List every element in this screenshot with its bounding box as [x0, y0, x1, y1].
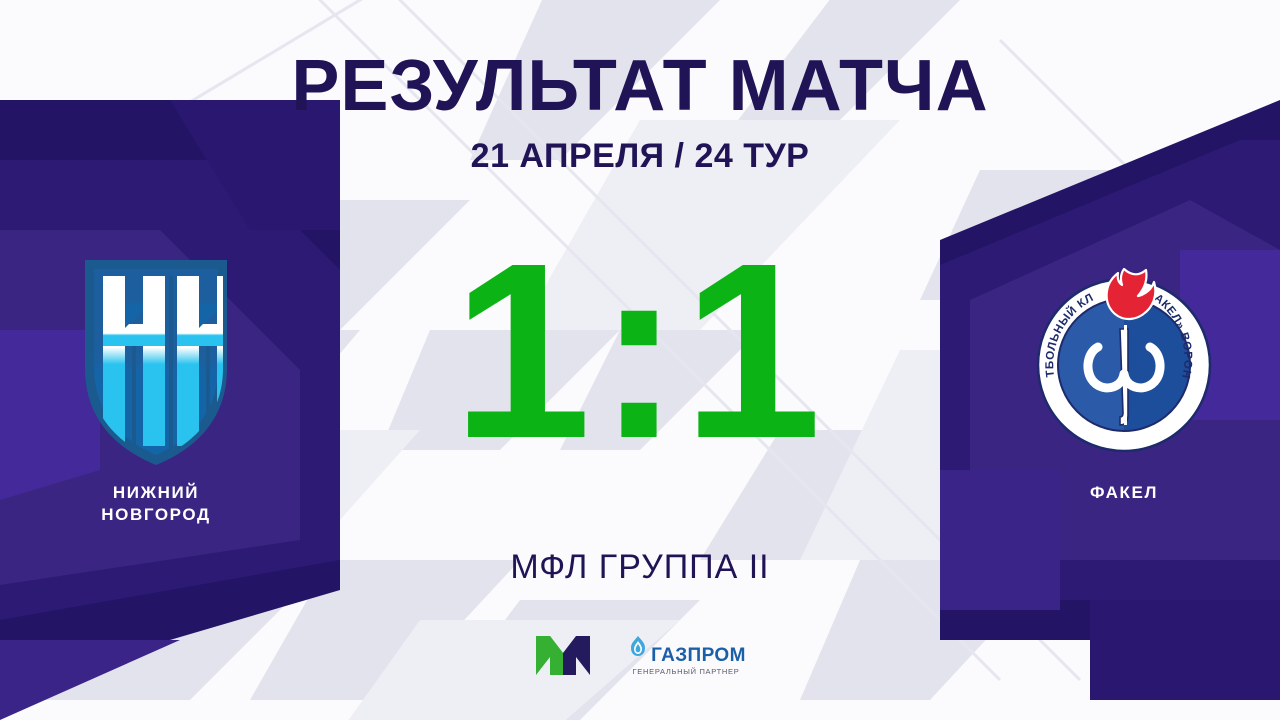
mfl-m-logo — [534, 633, 592, 677]
home-team-name-line1: НИЖНИЙ — [6, 482, 306, 504]
score-separator: : — [597, 211, 682, 490]
home-team-name-line2: НОВГОРОД — [6, 504, 306, 526]
sponsor-bar: ГАЗПРОМ ГЕНЕРАЛЬНЫЙ ПАРТНЕР — [340, 624, 940, 686]
m-letter-icon — [534, 633, 592, 677]
gazprom-partner-subtitle: ГЕНЕРАЛЬНЫЙ ПАРТНЕР — [633, 667, 740, 676]
match-result-graphic: РЕЗУЛЬТАТ МАТЧА 21 АПРЕЛЯ / 24 ТУР — [0, 0, 1280, 720]
flame-icon — [1107, 269, 1156, 319]
shield-icon — [81, 250, 231, 465]
gazprom-logo: ГАЗПРОМ ГЕНЕРАЛЬНЫЙ ПАРТНЕР — [626, 635, 746, 676]
away-team-name-line1: ФАКЕЛ — [974, 482, 1274, 504]
away-team: ФУТБОЛЬНЫЙ КЛУБ «ФАКЕЛ» ВОРОНЕЖ — [974, 245, 1274, 504]
match-date-round: 21 АПРЕЛЯ / 24 ТУР — [0, 122, 1280, 173]
home-team-name: НИЖНИЙ НОВГОРОД — [6, 482, 306, 527]
away-team-name: ФАКЕЛ — [974, 482, 1274, 504]
gazprom-wordmark: ГАЗПРОМ — [651, 647, 746, 664]
score-display: 1:1 — [340, 226, 940, 476]
gazprom-wordmark-row: ГАЗПРОМ — [626, 635, 746, 665]
fakel-voronezh-crest-icon: ФУТБОЛЬНЫЙ КЛУБ «ФАКЕЛ» ВОРОНЕЖ — [974, 245, 1274, 470]
away-score: 1 — [683, 211, 828, 490]
header: РЕЗУЛЬТАТ МАТЧА 21 АПРЕЛЯ / 24 ТУР — [0, 0, 1280, 173]
competition-label: МФЛ ГРУППА II — [340, 548, 940, 587]
nizhny-novgorod-crest-icon — [6, 245, 306, 470]
home-team: НИЖНИЙ НОВГОРОД — [6, 245, 306, 527]
home-score: 1 — [452, 211, 597, 490]
gazprom-flame-icon — [626, 635, 650, 665]
badge-icon: ФУТБОЛЬНЫЙ КЛУБ «ФАКЕЛ» ВОРОНЕЖ — [1024, 255, 1224, 460]
page-title: РЕЗУЛЬТАТ МАТЧА — [0, 0, 1280, 122]
